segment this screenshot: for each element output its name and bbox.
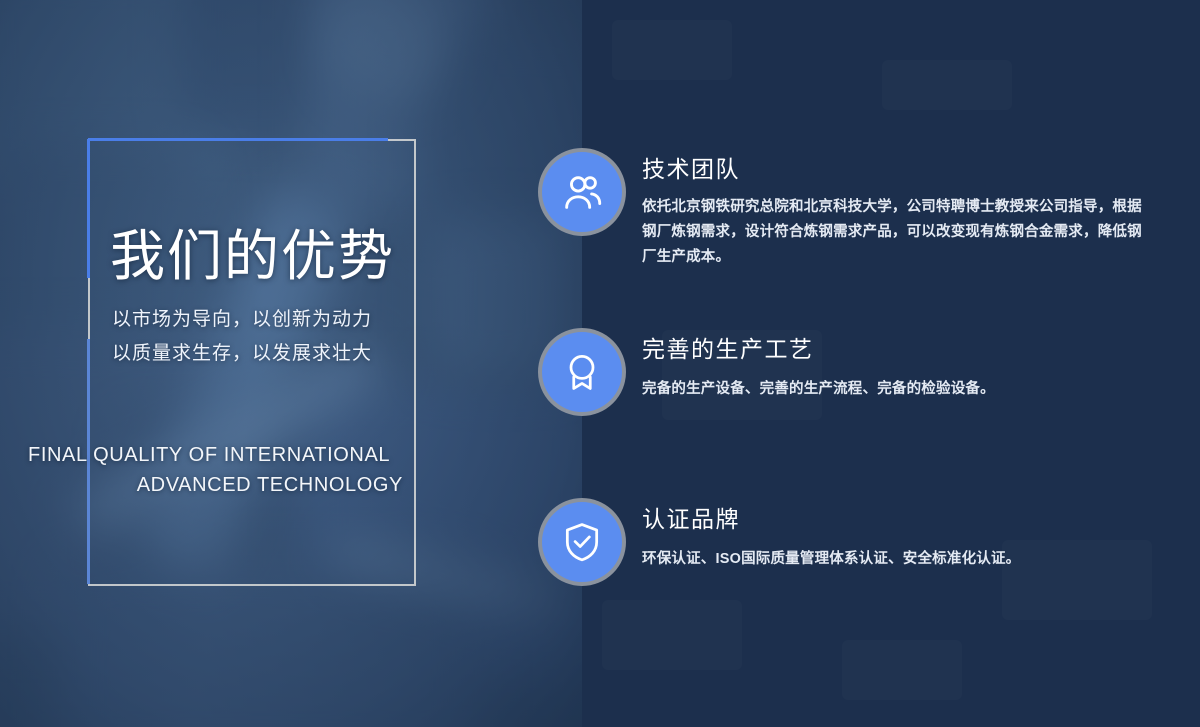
page-subtitle: 以市场为导向，以创新为动力 以质量求生存，以发展求壮大 (112, 303, 372, 371)
feature-description: 环保认证、ISO国际质量管理体系认证、安全标准化认证。 (642, 547, 1162, 572)
subtitle-line-2: 以质量求生存，以发展求壮大 (112, 337, 372, 371)
english-tagline-line-1: FINAL QUALITY OF INTERNATIONAL (28, 440, 403, 470)
feature-description: 完备的生产设备、完善的生产流程、完备的检验设备。 (642, 377, 1162, 402)
shield-check-icon (538, 498, 626, 586)
advantages-slide: 我们的优势 以市场为导向，以创新为动力 以质量求生存，以发展求壮大 FINAL … (0, 0, 1200, 727)
feature-text-block: 认证品牌 环保认证、ISO国际质量管理体系认证、安全标准化认证。 (642, 498, 1162, 572)
english-tagline: FINAL QUALITY OF INTERNATIONAL ADVANCED … (28, 440, 403, 500)
award-medal-icon (538, 328, 626, 416)
english-tagline-line-2: ADVANCED TECHNOLOGY (28, 470, 403, 500)
subtitle-line-1: 以市场为导向，以创新为动力 (112, 303, 372, 337)
feature-description: 依托北京钢铁研究总院和北京科技大学，公司特聘博士教授来公司指导，根据钢厂炼钢需求… (642, 195, 1142, 270)
page-title: 我们的优势 (110, 228, 395, 286)
feature-text-block: 技术团队 依托北京钢铁研究总院和北京科技大学，公司特聘博士教授来公司指导，根据钢… (642, 148, 1142, 270)
feature-title: 技术团队 (642, 154, 1142, 184)
frame-accent-left-upper (87, 139, 90, 278)
feature-title: 认证品牌 (642, 504, 1162, 534)
users-group-icon (538, 148, 626, 236)
frame-accent-top (88, 138, 388, 141)
feature-text-block: 完善的生产工艺 完备的生产设备、完善的生产流程、完备的检验设备。 (642, 328, 1162, 402)
feature-title: 完善的生产工艺 (642, 334, 1162, 364)
